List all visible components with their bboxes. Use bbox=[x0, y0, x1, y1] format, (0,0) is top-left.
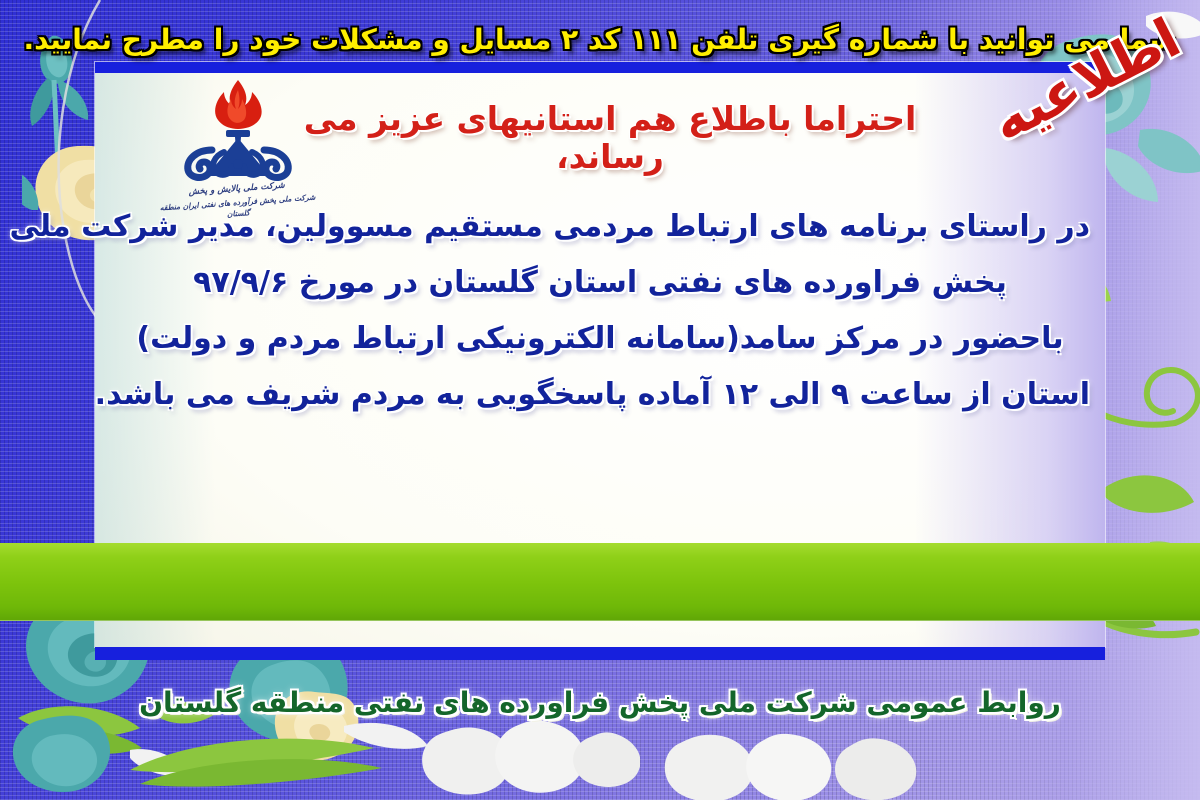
leaf-spray-bottomleft bbox=[130, 718, 430, 800]
body-line-4: استان از ساعت ۹ الی ۱۲ آماده پاسخگویی به… bbox=[110, 380, 1090, 410]
body-line-1: در راستای برنامه های ارتباط مردمی مستقیم… bbox=[110, 212, 1090, 242]
highlight-band-text: شما می توانید با شماره گیری تلفن ۱۱۱ کد … bbox=[0, 0, 1200, 78]
announcement-body: در راستای برنامه های ارتباط مردمی مستقیم… bbox=[110, 212, 1090, 436]
body-line-3: باحضور در مرکز سامد(سامانه الکترونیکی ار… bbox=[110, 324, 1090, 354]
page-title: احتراما باطلاع هم استانیهای عزیز می رسان… bbox=[270, 100, 950, 176]
announcement-poster: شرکت ملی پالایش و پخش شرکت ملی پخش فرآور… bbox=[0, 0, 1200, 800]
footer-credit: روابط عمومی شرکت ملی پخش فراورده های نفت… bbox=[0, 686, 1200, 719]
highlight-band bbox=[0, 543, 1200, 621]
body-line-2: پخش فراورده های نفتی استان گلستان در مور… bbox=[110, 268, 1090, 298]
card-bottom-blue-band bbox=[95, 647, 1105, 660]
